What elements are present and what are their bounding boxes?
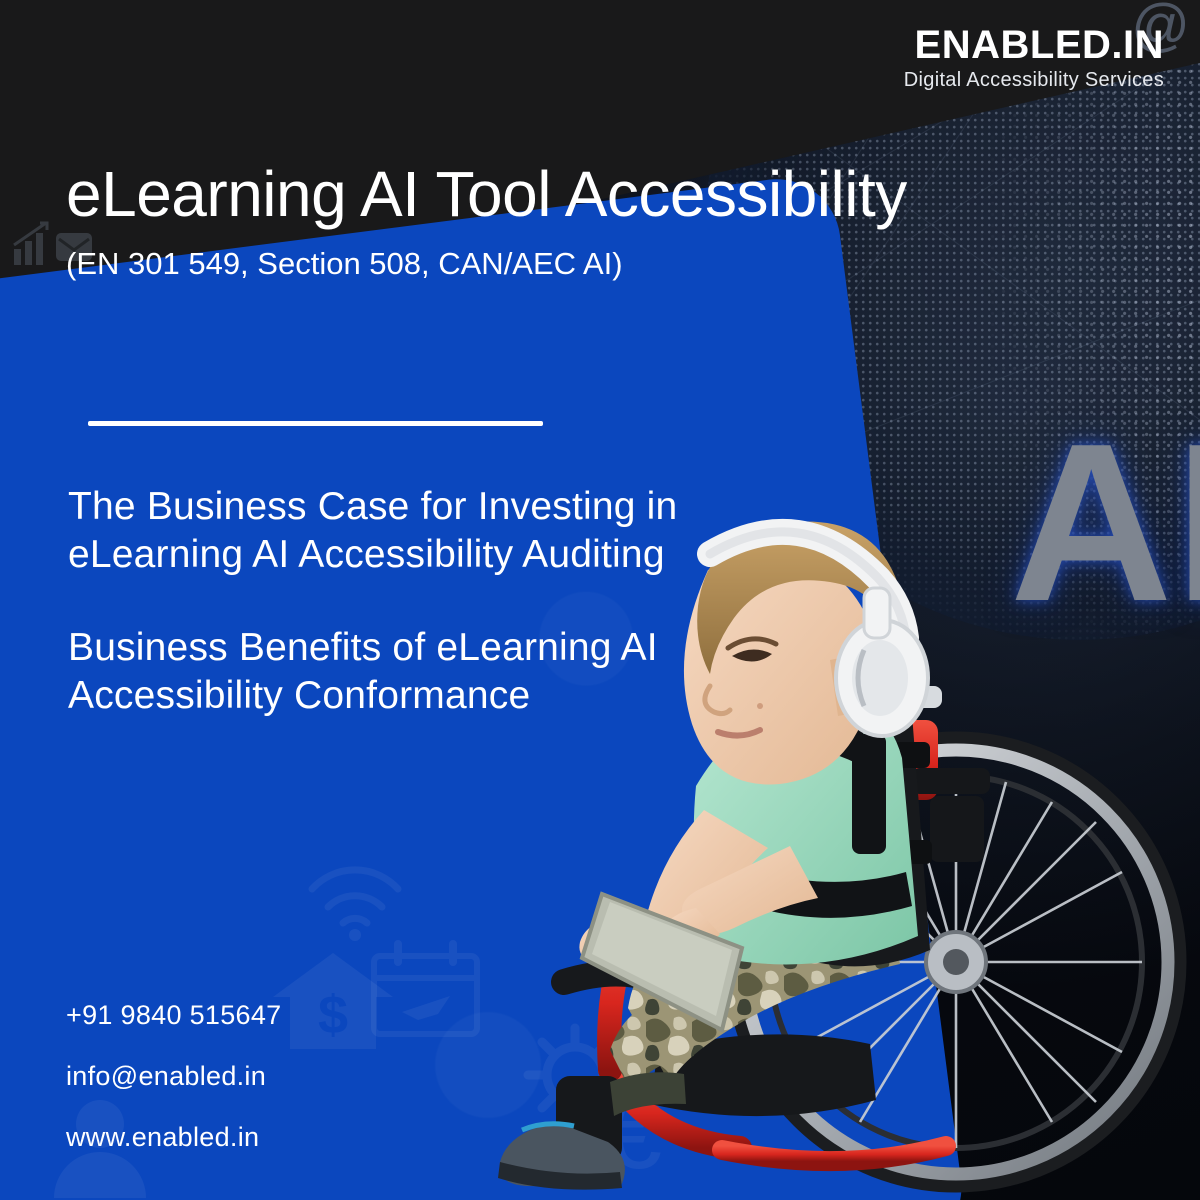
page-subtitle: (EN 301 549, Section 508, CAN/AEC AI) [66,246,623,282]
poster-canvas: Ƀ AI @ $ € [0,0,1200,1200]
footrest-and-shoe [498,1076,625,1190]
page-title: eLearning AI Tool Accessibility [66,161,907,228]
contact-phone[interactable]: +91 9840 515647 [66,1000,281,1031]
logo-company-name: ENABLED.IN [904,24,1164,66]
contact-email[interactable]: info@enabled.in [66,1061,281,1092]
boy-in-wheelchair-photo [460,510,1200,1200]
brand-logo[interactable]: ENABLED.IN Digital Accessibility Service… [904,24,1164,92]
contact-block: +91 9840 515647 info@enabled.in www.enab… [66,1000,281,1153]
logo-tagline: Digital Accessibility Services [904,69,1164,92]
contact-website[interactable]: www.enabled.in [66,1122,281,1153]
divider-rule [88,421,543,426]
